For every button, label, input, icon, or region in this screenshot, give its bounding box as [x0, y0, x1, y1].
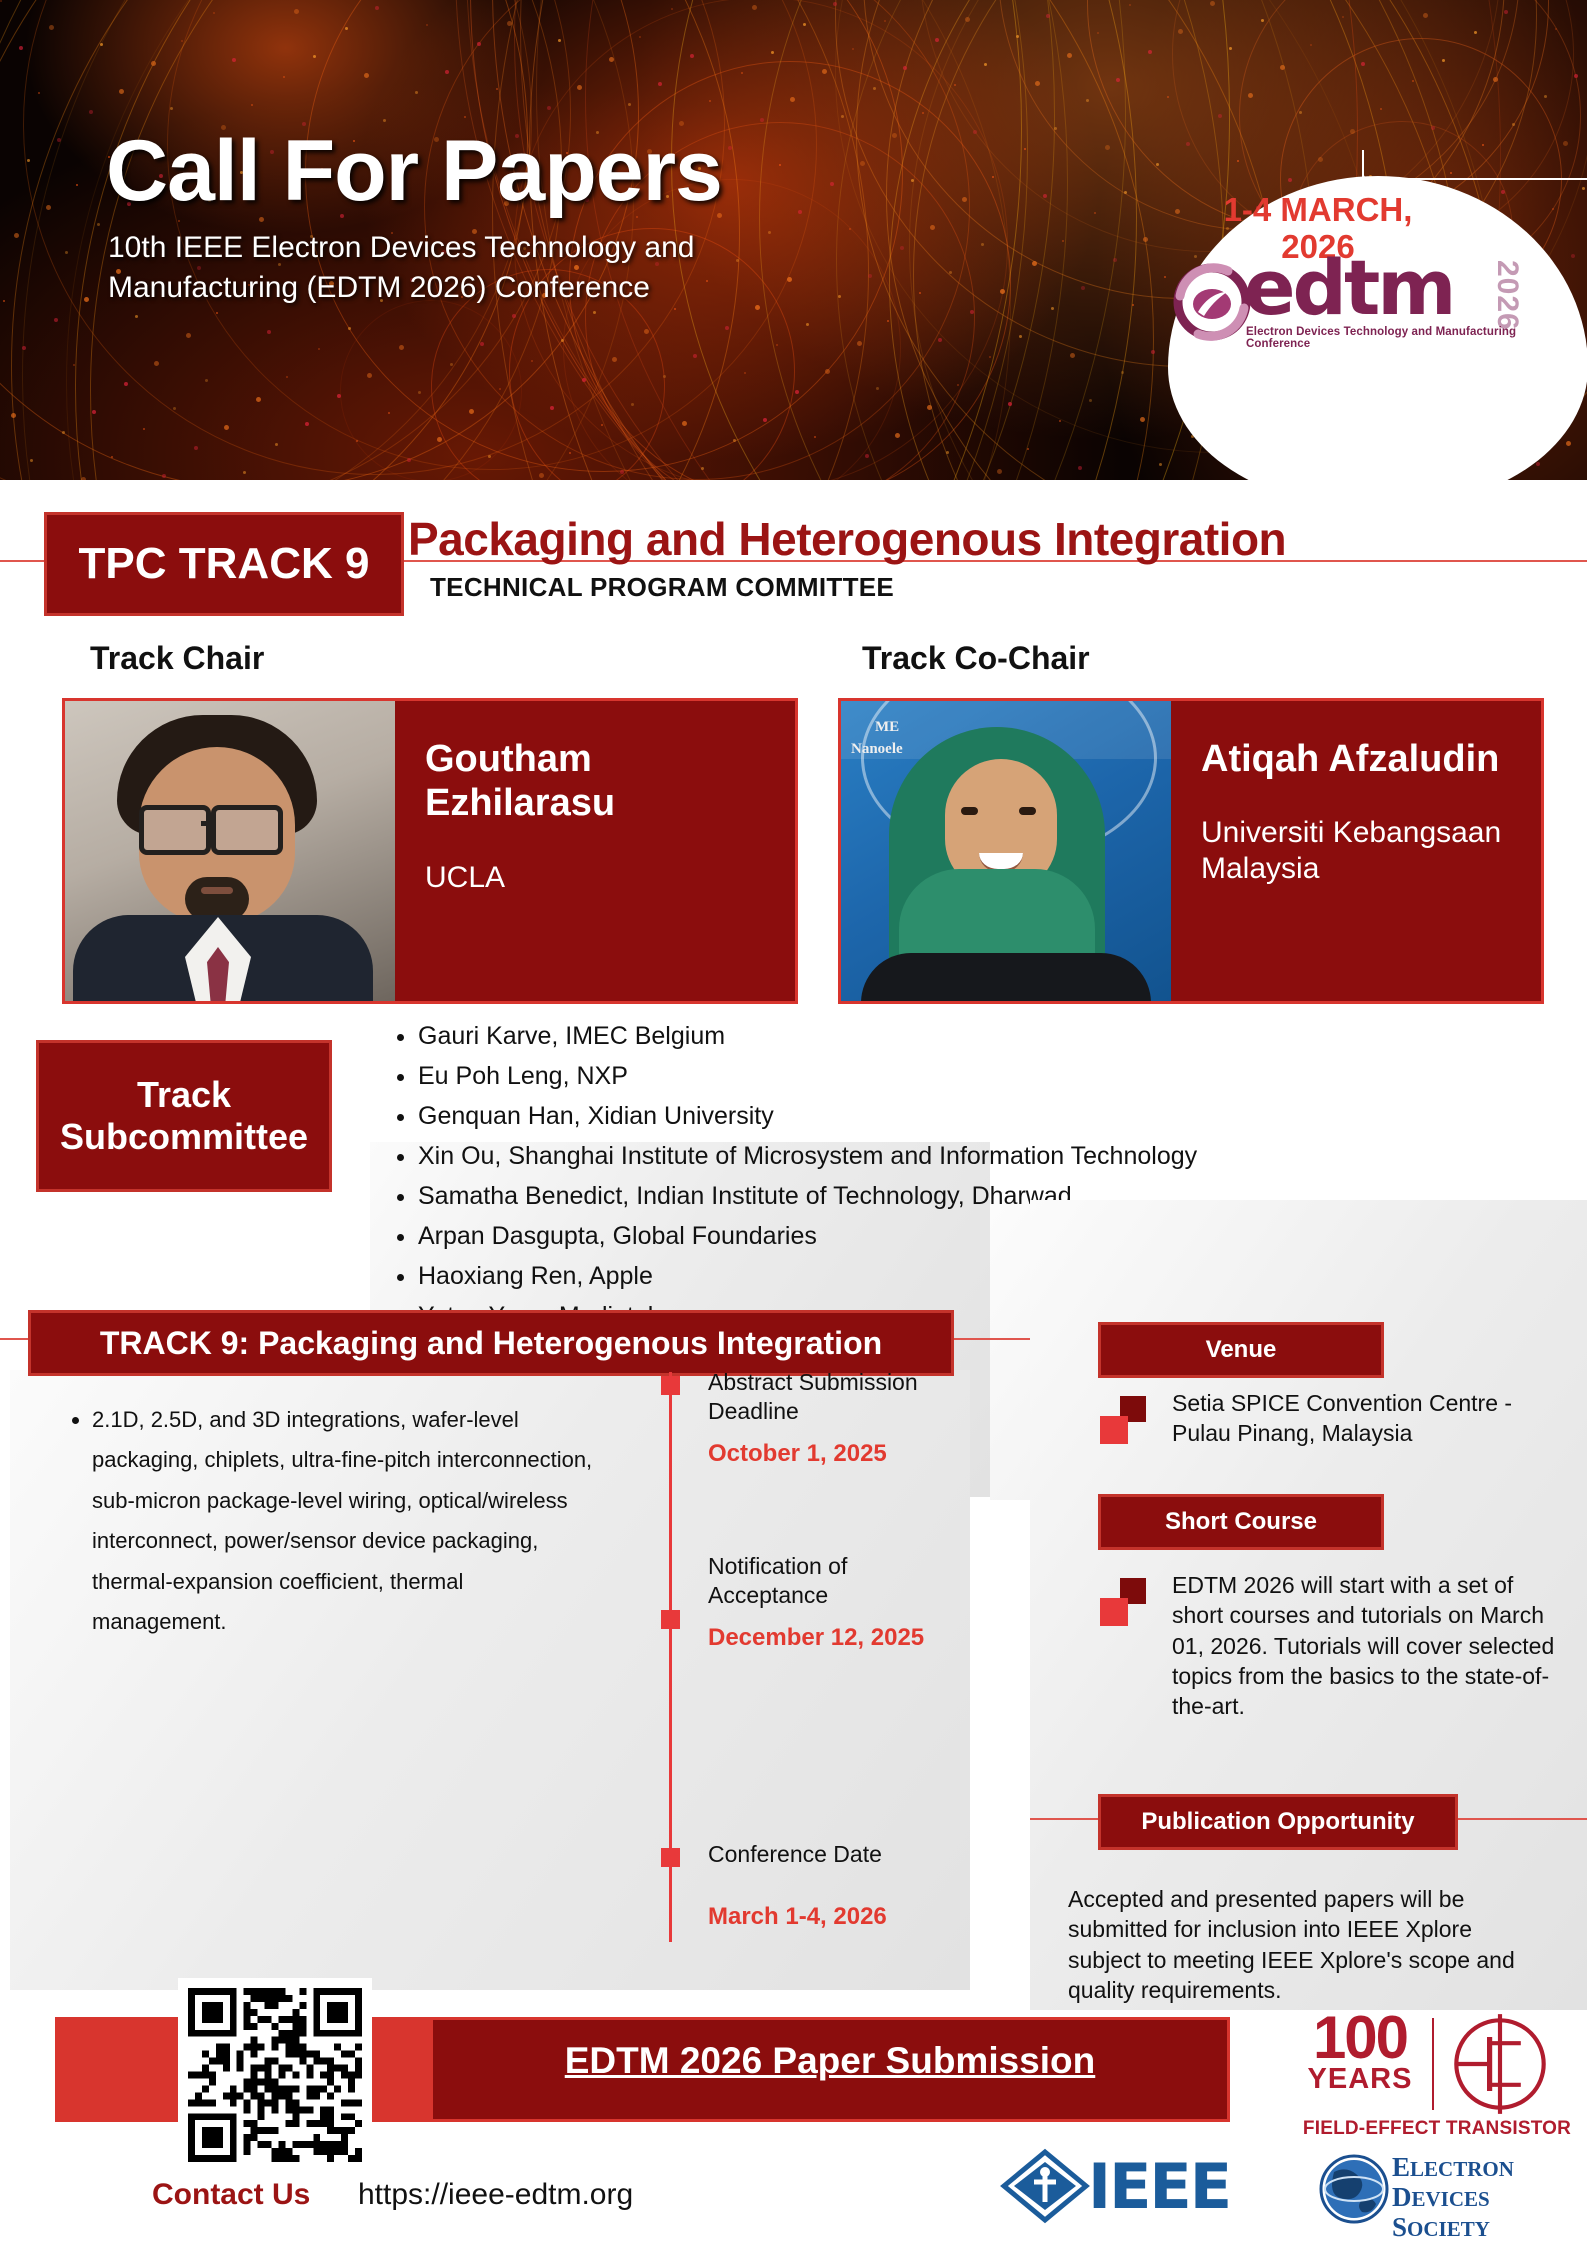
tpc-committee-label: TECHNICAL PROGRAM COMMITTEE [430, 572, 894, 603]
header-banner: Call For Papers 10th IEEE Electron Devic… [0, 0, 1587, 480]
timeline-marker-1 [661, 1376, 680, 1395]
eds-wordmark: ELECTRON DEVICES SOCIETY [1392, 2152, 1514, 2243]
track-chair-label: Track Chair [90, 640, 264, 677]
venue-bullet-icon [1100, 1396, 1146, 1442]
fet-logo-divider [1432, 2018, 1434, 2110]
track-cochair-card: ME Nanoele Orga Atiqah Afzaludin Univers… [838, 698, 1544, 1004]
track-topics-list: 2.1D, 2.5D, and 3D integrations, wafer-l… [62, 1400, 602, 1643]
eds-line-3: OCIETY [1407, 2217, 1490, 2241]
transistor-symbol-icon [1448, 2012, 1552, 2116]
subcommittee-member: Gauri Karve, IMEC Belgium [418, 1018, 1510, 1055]
track-cochair-affiliation: Universiti Kebangsaan Malaysia [1201, 815, 1515, 887]
qr-code[interactable] [178, 1978, 372, 2172]
subcommittee-member: Genquan Han, Xidian University [418, 1098, 1510, 1135]
venue-badge: Venue [1098, 1322, 1384, 1378]
tpc-track-badge: TPC TRACK 9 [44, 512, 404, 616]
page-title: Call For Papers [106, 128, 722, 214]
ieee-wordmark: IEEE [1088, 2150, 1230, 2223]
conference-subtitle: 10th IEEE Electron Devices Technology an… [108, 228, 828, 308]
subcommittee-member: Xin Ou, Shanghai Institute of Microsyste… [418, 1138, 1510, 1175]
timeline-date-3: March 1-4, 2026 [708, 1903, 958, 1931]
eds-cap-s: S [1392, 2212, 1407, 2242]
edtm-logo-year: 2026 [1490, 260, 1524, 331]
photo-backdrop-text-2: Nanoele [851, 741, 903, 758]
timeline-label-3: Conference Date [708, 1840, 958, 1869]
edtm-logo: edtm 2026 Electron Devices Technology an… [1172, 258, 1572, 348]
track-cochair-photo: ME Nanoele Orga [841, 701, 1171, 1001]
tpc-track-title: Packaging and Heterogenous Integration [408, 512, 1286, 566]
track-chair-name: Goutham Ezhilarasu [425, 737, 769, 826]
paper-submission-link[interactable]: EDTM 2026 Paper Submission [460, 2040, 1200, 2082]
subcommittee-badge-line2: Subcommittee [60, 1116, 308, 1158]
subcommittee-member: Eu Poh Leng, NXP [418, 1058, 1510, 1095]
timeline-item-1: Abstract Submission Deadline October 1, … [708, 1368, 958, 1468]
publication-text: Accepted and presented papers will be su… [1068, 1884, 1538, 2005]
eds-line-1: LECTRON [1410, 2157, 1514, 2181]
timeline-item-3: Conference Date March 1-4, 2026 [708, 1840, 958, 1931]
timeline-label-1: Abstract Submission Deadline [708, 1368, 958, 1426]
venue-text: Setia SPICE Convention Centre - Pulau Pi… [1172, 1388, 1564, 1449]
subcommittee-badge: Track Subcommittee [36, 1040, 332, 1192]
timeline-date-1: October 1, 2025 [708, 1440, 958, 1468]
track-cochair-label: Track Co-Chair [862, 640, 1090, 677]
short-course-badge: Short Course [1098, 1494, 1384, 1550]
track-cochair-name: Atiqah Afzaludin [1201, 737, 1515, 781]
short-course-bullet-icon [1100, 1578, 1146, 1624]
contact-url[interactable]: https://ieee-edtm.org [358, 2178, 633, 2212]
eds-line-2: EVICES [1412, 2187, 1490, 2211]
timeline-item-2: Notification of Acceptance December 12, … [708, 1552, 958, 1652]
timeline-marker-2 [661, 1610, 680, 1629]
fet-caption: FIELD-EFFECT TRANSISTOR [1292, 2118, 1582, 2140]
timeline-label-2: Notification of Acceptance [708, 1552, 958, 1610]
track-chair-affiliation: UCLA [425, 860, 769, 896]
timeline-date-2: December 12, 2025 [708, 1624, 958, 1652]
edtm-logo-tagline: Electron Devices Technology and Manufact… [1246, 326, 1572, 350]
track-chair-photo [65, 701, 395, 1001]
track-chair-card: Goutham Ezhilarasu UCLA [62, 698, 798, 1004]
track-topic-item: 2.1D, 2.5D, and 3D integrations, wafer-l… [92, 1400, 602, 1643]
timeline-marker-3 [661, 1848, 680, 1867]
fet-100-number: 100 [1300, 2010, 1420, 2065]
track-title-badge: TRACK 9: Packaging and Heterogenous Inte… [28, 1310, 954, 1376]
subcommittee-badge-line1: Track [137, 1074, 231, 1116]
photo-backdrop-text-1: ME [875, 719, 899, 736]
publication-badge: Publication Opportunity [1098, 1794, 1458, 1850]
fet-100-years-logo: 100 YEARS [1300, 2010, 1420, 2094]
contact-us-label: Contact Us [152, 2178, 310, 2212]
short-course-text: EDTM 2026 will start with a set of short… [1172, 1570, 1564, 1722]
edtm-wordmark: edtm [1244, 250, 1453, 326]
qr-code-image [188, 1988, 362, 2162]
eds-cap-d: D [1392, 2182, 1412, 2212]
edtm-swirl-icon [1172, 262, 1252, 342]
eds-cap-e: E [1392, 2152, 1410, 2182]
fet-years-label: YEARS [1300, 2065, 1420, 2094]
